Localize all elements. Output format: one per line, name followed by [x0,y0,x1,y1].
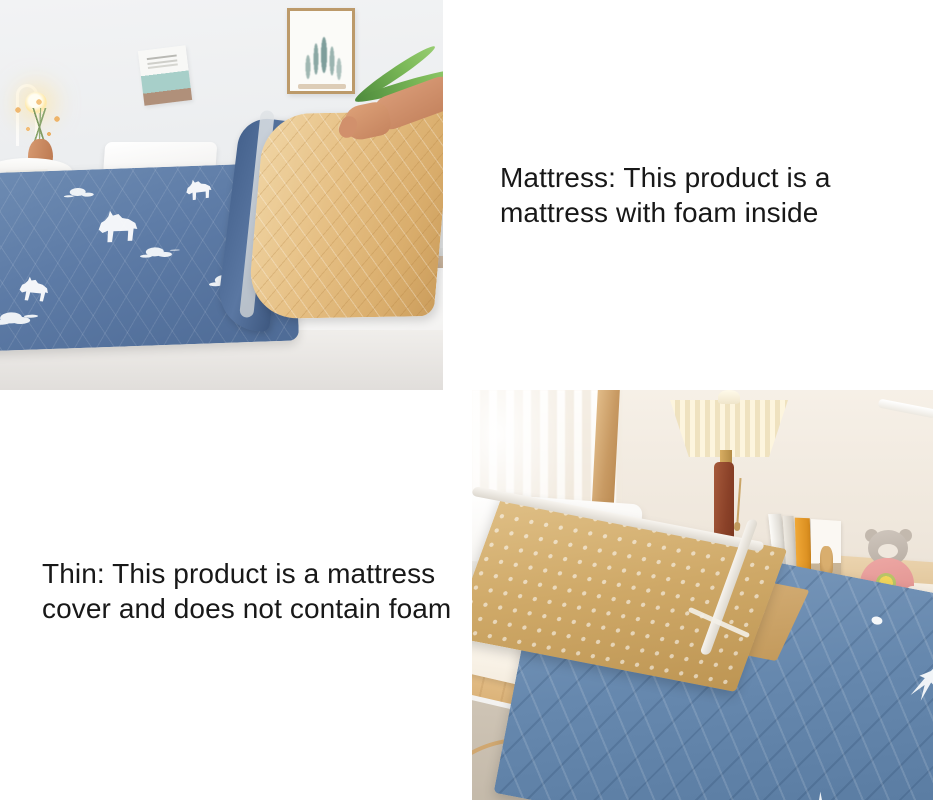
comparison-page: Mattress: This product is a mattress wit… [0,0,933,800]
cloud-print-icon [70,188,86,197]
teddy-bear-snout [878,544,898,558]
caption-mattress: Mattress: This product is a mattress wit… [500,160,900,230]
deer-silhouette-icon [94,208,141,244]
photo-thin-mattress-cover[interactable] [472,390,933,800]
print-dot [871,616,883,626]
deer-silhouette-icon [16,274,53,303]
magazine-title-lines [147,54,177,60]
leaf-print-icon [793,791,848,800]
mattress-tan-underside [247,111,443,319]
caption-thin: Thin: This product is a mattress cover a… [42,556,452,626]
cloud-print-icon [146,247,164,257]
cloud-print-icon [0,312,22,324]
pleated-lampshade [670,395,788,457]
hanging-magazine [138,45,192,105]
leaf-print-icon [890,645,933,720]
deer-silhouette-icon [182,176,214,201]
photo-mattress-with-foam[interactable] [0,0,443,390]
lamp-finial [718,390,740,404]
